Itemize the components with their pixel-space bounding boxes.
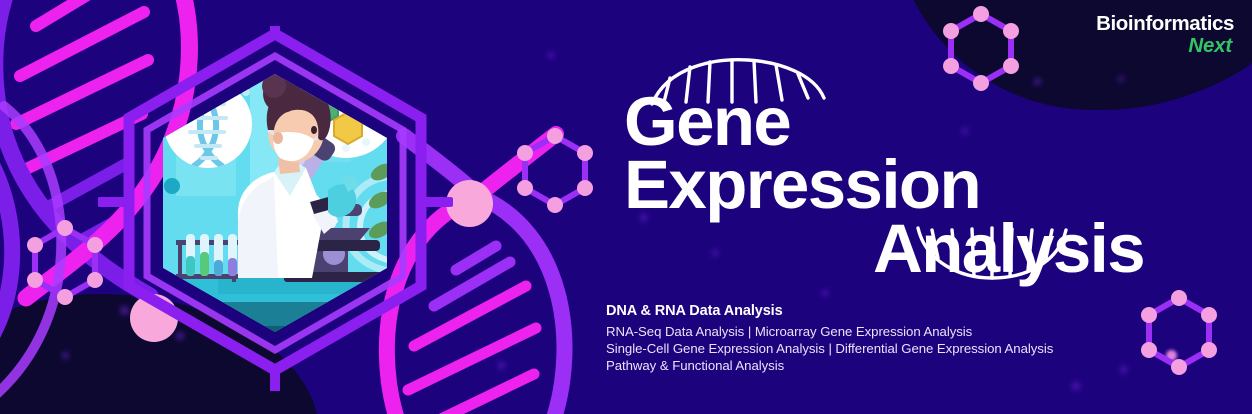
hexagon-molecule — [1136, 288, 1222, 378]
illustration-scientist-at-microscope — [98, 26, 453, 391]
page-title-line-1: Gene Expression — [624, 90, 1144, 217]
page-title: Gene Expression Analysis — [624, 90, 1144, 280]
subtitle-line: Single-Cell Gene Expression Analysis | D… — [606, 341, 1053, 358]
glow-dot — [822, 290, 828, 296]
glow-dot — [1034, 78, 1041, 85]
subtitle-line: RNA-Seq Data Analysis | Microarray Gene … — [606, 324, 1053, 341]
subtitle-line: Pathway & Functional Analysis — [606, 358, 1053, 375]
page-title-line-2: Analysis — [624, 217, 1144, 280]
hexagon-molecule — [938, 4, 1024, 94]
hexagon-molecule — [512, 126, 598, 216]
logo: Bioinformatics Next — [1096, 14, 1234, 56]
logo-text-primary: Bioinformatics — [1096, 14, 1234, 35]
glow-dot — [1120, 366, 1127, 373]
hexagon-molecule — [22, 218, 108, 308]
dna-node-dot — [446, 180, 493, 227]
glow-dot — [1072, 382, 1080, 390]
glow-dot — [548, 52, 554, 58]
logo-text-secondary: Next — [1096, 36, 1232, 57]
glow-dot — [1118, 76, 1124, 82]
subtitle-heading: DNA & RNA Data Analysis — [606, 303, 1053, 319]
banner-root: Bioinformatics Next — [0, 0, 1252, 414]
subtitle-block: DNA & RNA Data Analysis RNA-Seq Data Ana… — [606, 303, 1053, 375]
